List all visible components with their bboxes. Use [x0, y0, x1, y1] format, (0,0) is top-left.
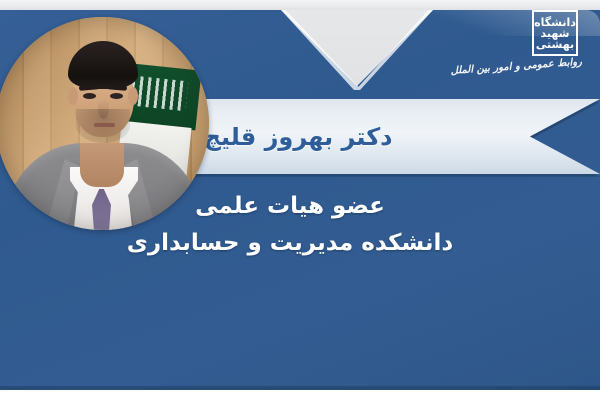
- university-logo: دانشگاه شهید بهشتی روابط عمومی و امور بی…: [486, 8, 582, 86]
- logo-frame-icon: دانشگاه شهید بهشتی: [532, 10, 578, 56]
- portrait-mouth: [94, 123, 115, 127]
- logo-line-1: دانشگاه: [534, 17, 576, 28]
- portrait-ear-left: [68, 87, 78, 105]
- profile-card-canvas: دکتر بهروز قلیچ لی: [0, 0, 600, 400]
- portrait-neck: [80, 143, 124, 187]
- flag-kufic-script: [130, 76, 189, 112]
- name-ribbon: دکتر بهروز قلیچ لی: [162, 99, 600, 174]
- logo-line-2: شهید: [541, 28, 570, 39]
- logo-line-3: بهشتی: [536, 39, 574, 50]
- logo-subtitle: روابط عمومی و امور بین الملل: [486, 57, 583, 75]
- portrait-ear-right: [128, 87, 138, 105]
- portrait-eye-right: [110, 93, 123, 99]
- bottom-edge-strip: [0, 390, 600, 400]
- role-title: عضو هیات علمی: [0, 190, 580, 223]
- portrait-eye-left: [83, 93, 96, 99]
- department-name: دانشکده مدیریت و حسابداری: [0, 227, 580, 260]
- person-name: دکتر بهروز قلیچ لی: [162, 99, 510, 174]
- role-block: عضو هیات علمی دانشکده مدیریت و حسابداری: [0, 190, 580, 261]
